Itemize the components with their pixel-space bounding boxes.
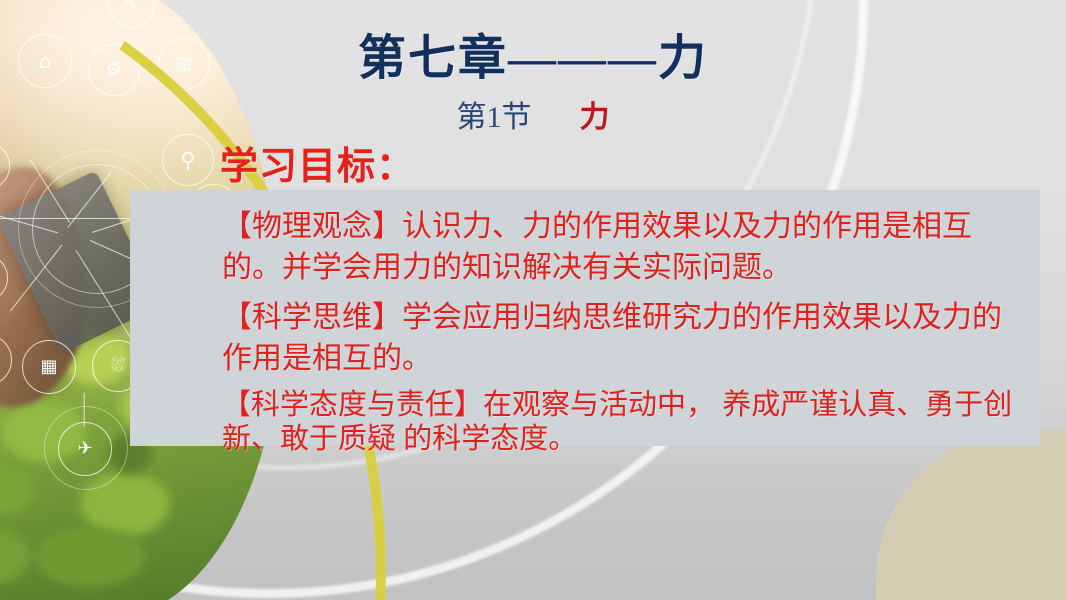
sprinkler-icon: ⛆ [92, 340, 144, 392]
plant-monitor-icon: ⚘ [0, 142, 10, 190]
section-label: 第1节 [457, 101, 532, 134]
objective-tag: 【物理观念】 [222, 210, 402, 243]
chapter-title: 第七章———力 [0, 18, 1066, 88]
hand-shape [0, 167, 86, 407]
slide-canvas: ⌂ ⚙ ▨ ✎ ⚲ ▤ ❋ ⚘ ≋ ▥ ▦ ⛆ ⚗ ✈ 第七章———力 第1节力… [0, 0, 1066, 600]
bar-chart-icon: ▥ [0, 334, 12, 386]
objective-tag: 【科学态度与责任】 [222, 389, 483, 421]
tablet-shape [0, 170, 161, 353]
chapter-title-glyph: 力 [658, 30, 708, 86]
objective-tag: 【科学思维】 [222, 301, 402, 334]
drone-icon: ✈ [58, 422, 112, 476]
learning-objectives-list: 【物理观念】认识力、力的作用效果以及力的作用是相互的。并学会用力的知识解决有关实… [222, 206, 1022, 464]
section-topic: 力 [580, 100, 610, 135]
warehouse-icon: ▦ [22, 340, 76, 394]
objective-item: 【科学思维】学会应用归纳思维研究力的作用效果以及力的作用是相互的。 [222, 297, 1022, 380]
chapter-title-prefix: 第七章——— [358, 32, 658, 85]
location-pin-icon: ⚲ [162, 134, 214, 186]
objective-item: 【物理观念】认识力、力的作用效果以及力的作用是相互的。并学会用力的知识解决有关实… [222, 206, 1022, 289]
objective-item: 【科学态度与责任】在观察与活动中， 养成严谨认真、勇于创新、敢于质疑 的科学态度… [222, 388, 1022, 456]
wifi-icon: ≋ [0, 254, 8, 302]
learning-objectives-heading: 学习目标： [220, 135, 415, 190]
fertilizer-icon: ⚗ [152, 338, 204, 390]
section-subtitle: 第1节力 [0, 92, 1066, 136]
